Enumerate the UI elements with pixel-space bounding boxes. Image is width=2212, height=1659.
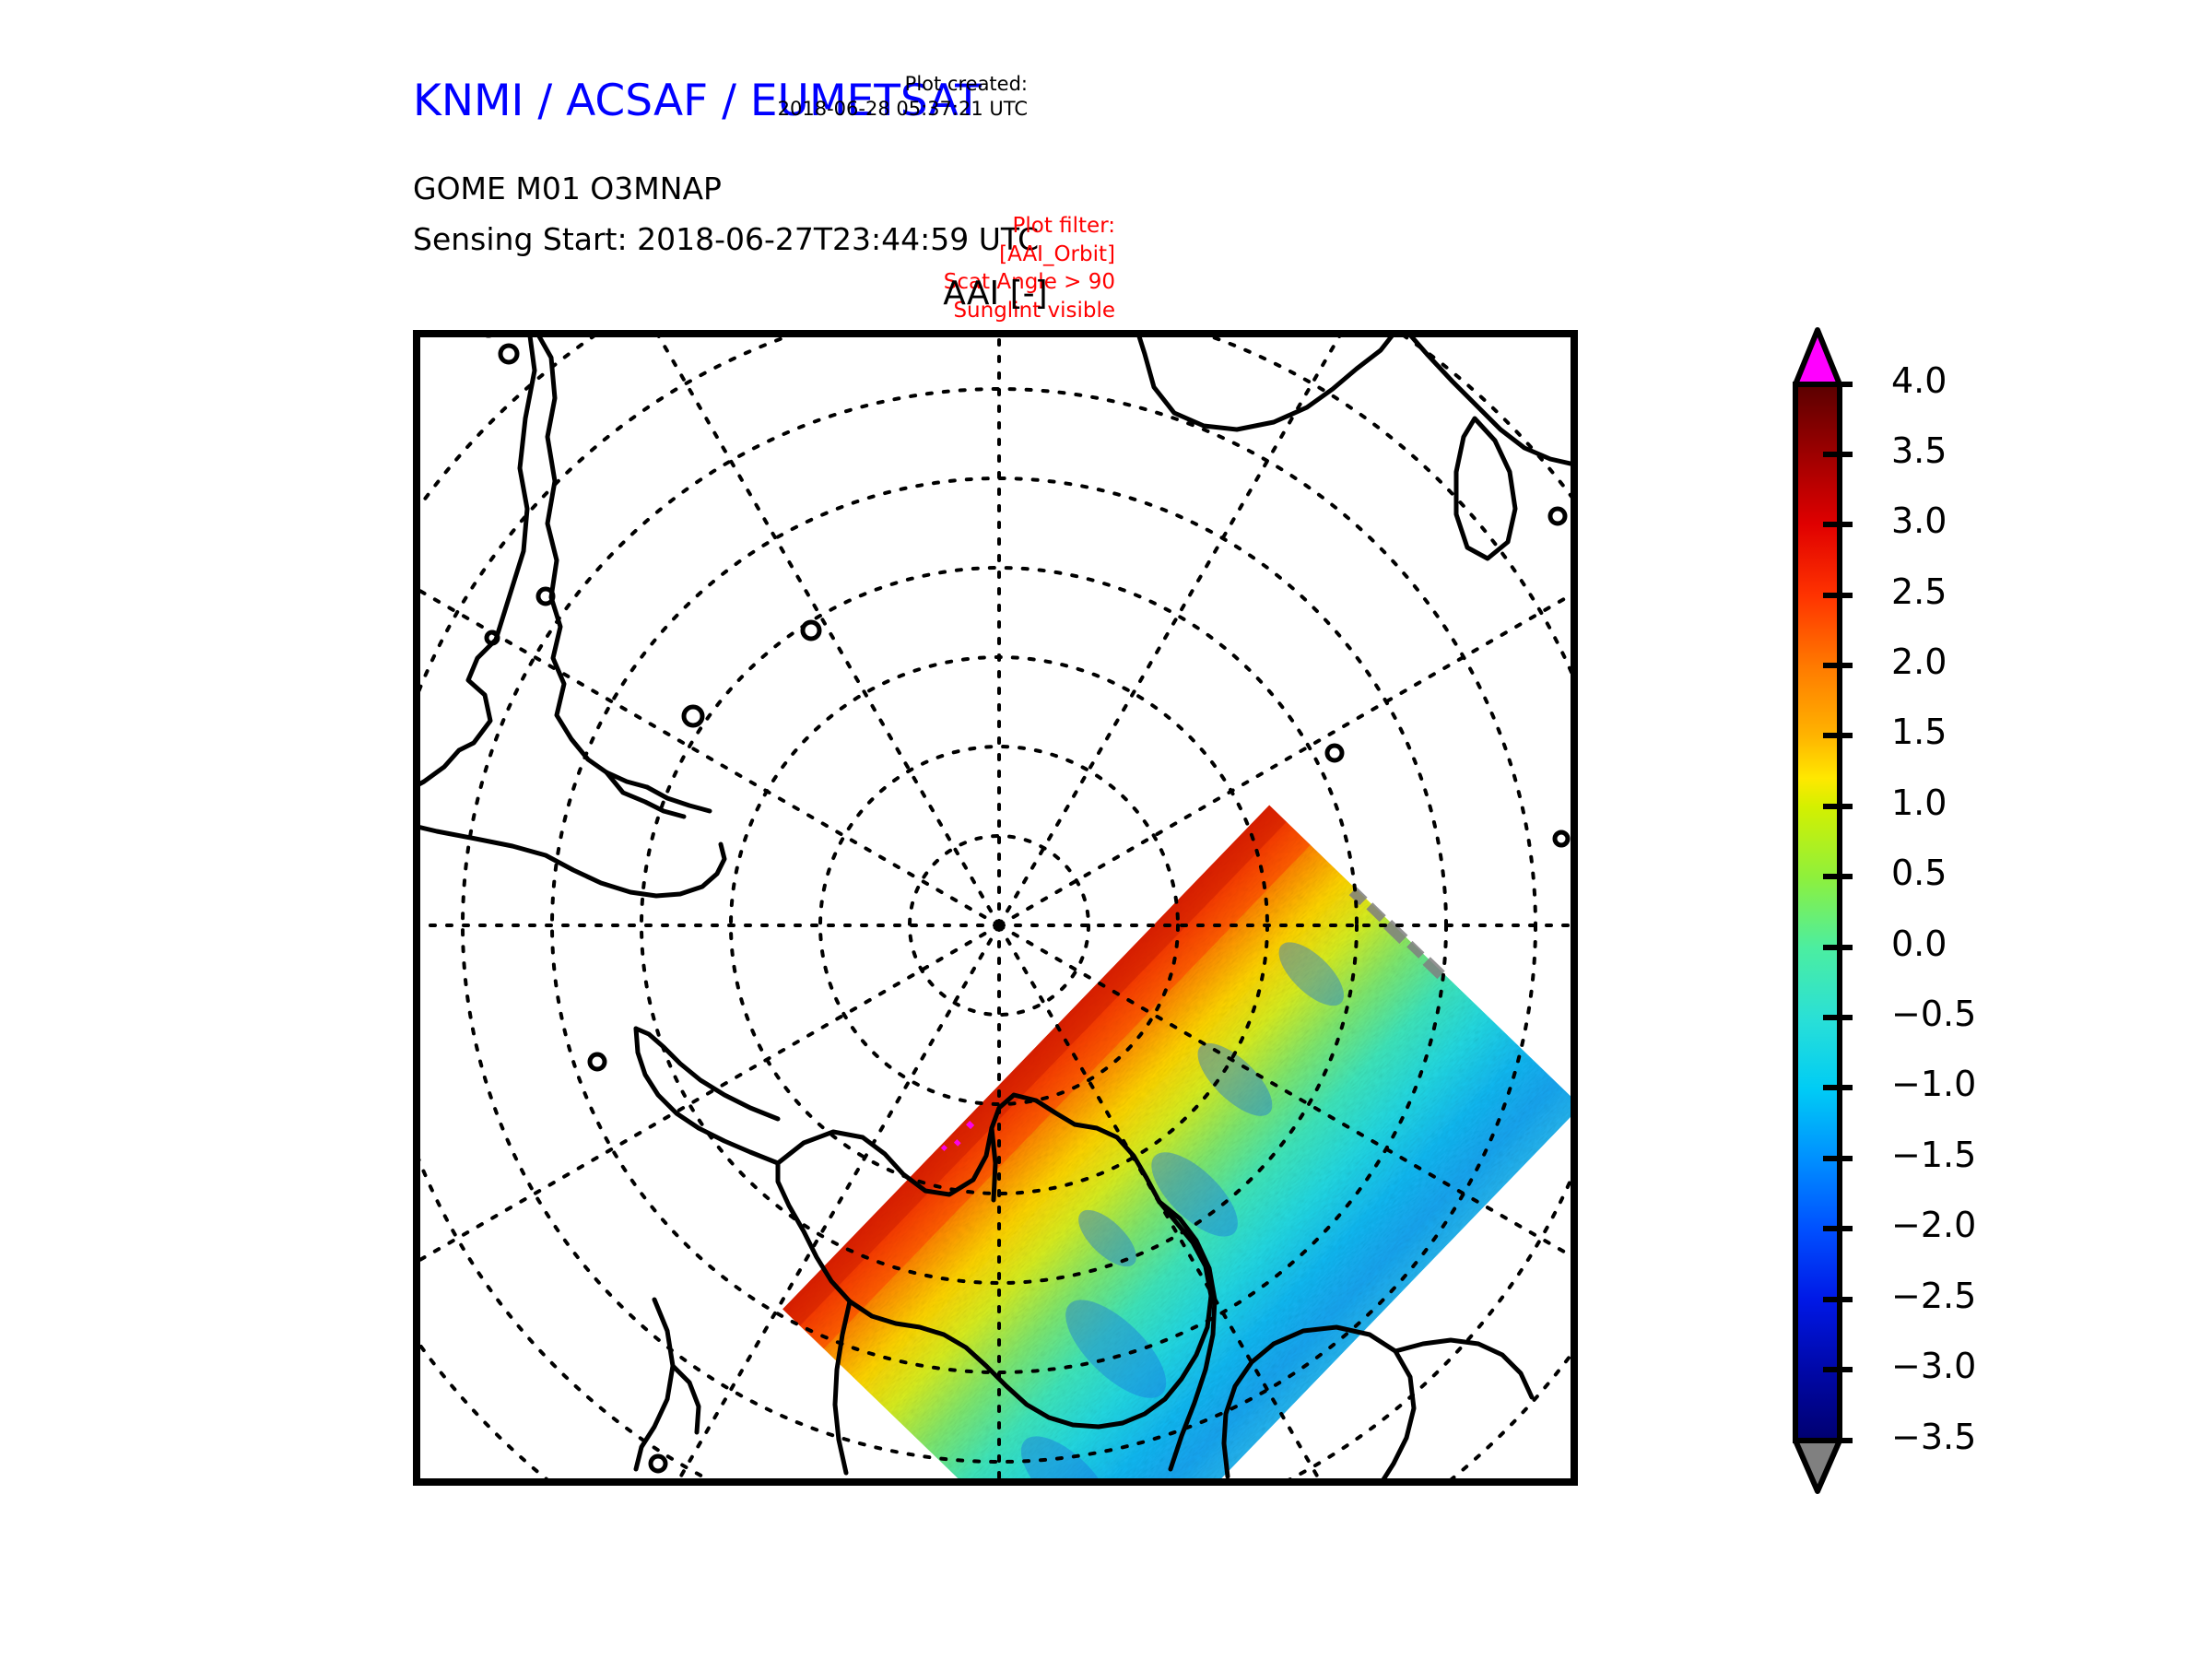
colorbar-tick-label: −2.5: [1891, 1278, 1976, 1313]
colorbar-tick-label: −1.5: [1891, 1137, 1976, 1172]
colorbar-tick-label: 3.0: [1891, 503, 1947, 538]
plot-filter-name: [AAI_Orbit]: [728, 241, 1115, 269]
colorbar-tick-label: 3.5: [1891, 433, 1947, 468]
plot-created-timestamp: 2018-06-28 05:37:21 UTC: [641, 97, 1028, 122]
colorbar-tick-label: 2.5: [1891, 574, 1947, 609]
colorbar-over-cap: [1795, 330, 1840, 384]
plot-created-label: Plot created:: [641, 72, 1028, 97]
colorbar-tick-label: −2.0: [1891, 1207, 1976, 1242]
colorbar-tick-label: 0.0: [1891, 926, 1947, 961]
map-plot-area: [413, 330, 1578, 1486]
map-canvas: [417, 334, 1574, 1482]
colorbar-tick-label: −3.5: [1891, 1419, 1976, 1454]
colorbar-under-cap: [1795, 1441, 1840, 1491]
colorbar-tick-label: −0.5: [1891, 996, 1976, 1031]
colorbar-tick-label: 2.0: [1891, 644, 1947, 679]
colorbar-bar: [1795, 384, 1840, 1441]
product-name: GOME M01 O3MNAP: [413, 171, 722, 206]
plot-title: AAI [-]: [413, 275, 1578, 312]
colorbar: 4.0 3.5 3.0 2.5 2.0 1.5 1.0 0.5 0.0 −0.5…: [1788, 323, 2175, 1499]
colorbar-tick-label: −3.0: [1891, 1348, 1976, 1383]
colorbar-tick-label: −1.0: [1891, 1066, 1976, 1101]
plot-filter-label: Plot filter:: [728, 212, 1115, 241]
plot-created-block: Plot created: 2018-06-28 05:37:21 UTC: [641, 72, 1028, 123]
colorbar-svg: [1788, 323, 2175, 1499]
colorbar-tick-label: 1.0: [1891, 785, 1947, 820]
colorbar-tick-label: 0.5: [1891, 855, 1947, 890]
map-svg: [417, 334, 1574, 1482]
colorbar-tick-label: 1.5: [1891, 714, 1947, 749]
colorbar-tick-label: 4.0: [1891, 363, 1947, 398]
